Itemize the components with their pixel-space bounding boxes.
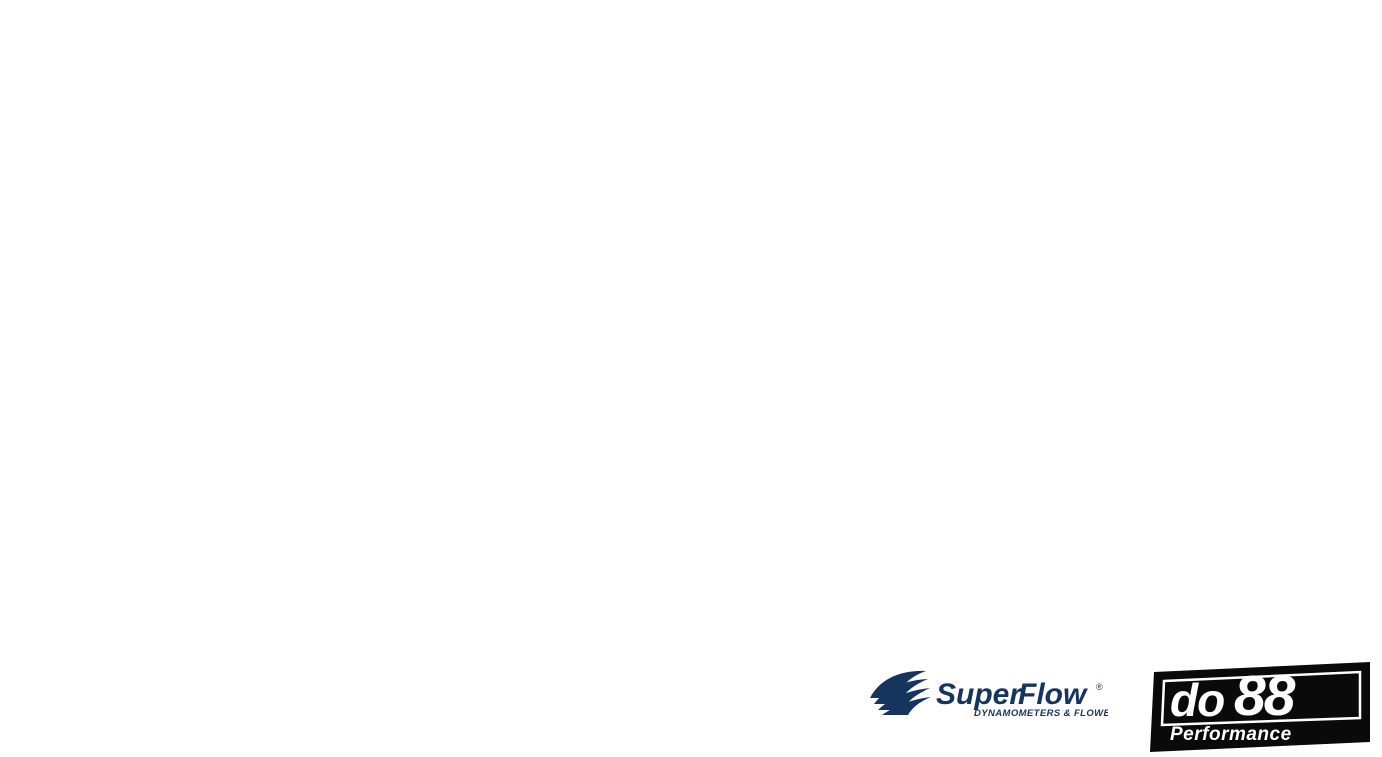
- superflow-wordmark-flow: Flow: [1018, 678, 1088, 711]
- do88-wordmark: do: [1170, 674, 1224, 726]
- chart-page: Super Flow ® DYNAMOMETERS & FLOWBENCHES …: [0, 0, 1382, 755]
- superflow-logo-graphic: Super Flow ® DYNAMOMETERS & FLOWBENCHES: [868, 668, 1108, 720]
- chart-svg: [0, 0, 1382, 600]
- do88-logo-graphic: do 88 Performance: [1148, 662, 1376, 752]
- do88-logo: do 88 Performance: [1148, 662, 1376, 752]
- superflow-swoosh-icon: [870, 671, 931, 715]
- superflow-logo: Super Flow ® DYNAMOMETERS & FLOWBENCHES: [868, 668, 1108, 720]
- do88-wordmark-88: 88: [1234, 664, 1296, 728]
- superflow-trademark: ®: [1096, 682, 1103, 692]
- do88-tagline: Performance: [1170, 724, 1292, 745]
- plot-area: [0, 0, 1382, 600]
- superflow-wordmark-super: Super: [936, 678, 1023, 711]
- superflow-tagline: DYNAMOMETERS & FLOWBENCHES: [974, 708, 1108, 719]
